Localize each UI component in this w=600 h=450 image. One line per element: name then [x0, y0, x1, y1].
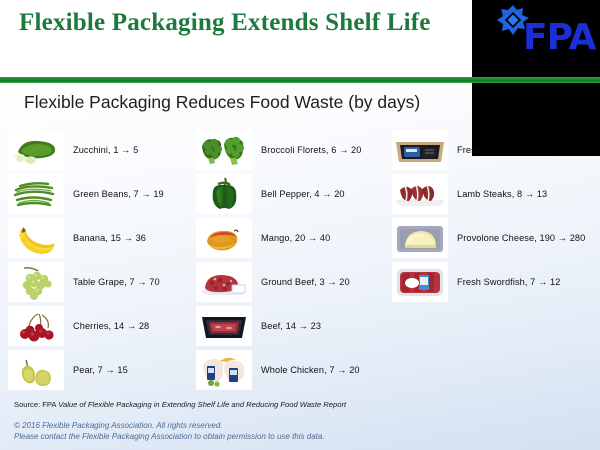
- item-label: Fresh: [448, 145, 481, 155]
- bell-pepper-image: [196, 174, 252, 214]
- item-label: Broccoli Florets, 6 → 20: [252, 145, 361, 155]
- lamb-steaks-image: [392, 174, 448, 214]
- list-item: Cherries, 14 → 28: [8, 304, 198, 348]
- green-beans-image: [8, 174, 64, 214]
- copyright-block: © 2016 Flexible Packaging Association. A…: [14, 420, 325, 442]
- section-subtitle: Flexible Packaging Reduces Food Waste (b…: [24, 92, 420, 113]
- item-label: Mango, 20 → 40: [252, 233, 330, 243]
- copyright-line-2: Please contact the Flexible Packaging As…: [14, 431, 325, 442]
- item-label: Lamb Steaks, 8 → 13: [448, 189, 547, 199]
- page-title: Flexible Packaging Extends Shelf Life: [19, 8, 459, 37]
- banana-image: [8, 218, 64, 258]
- cherries-image: [8, 306, 64, 346]
- whole-chicken-image: [196, 350, 252, 390]
- ground-beef-image: [196, 262, 252, 302]
- grapes-image: [8, 262, 64, 302]
- list-item: Pear, 7 → 15: [8, 348, 198, 392]
- list-item: Banana, 15 → 36: [8, 216, 198, 260]
- list-item: Fresh: [392, 128, 600, 172]
- copyright-line-1: © 2016 Flexible Packaging Association. A…: [14, 420, 325, 431]
- item-label: Pear, 7 → 15: [64, 365, 128, 375]
- item-label: Fresh Swordfish, 7 → 12: [448, 277, 560, 287]
- zucchini-image: [8, 130, 64, 170]
- list-item: Broccoli Florets, 6 → 20: [196, 128, 392, 172]
- broccoli-image: [196, 130, 252, 170]
- source-title: Value of Flexible Packaging in Extending…: [58, 400, 346, 409]
- item-label: Whole Chicken, 7 → 20: [252, 365, 360, 375]
- item-label: Green Beans, 7 → 19: [64, 189, 164, 199]
- item-label: Table Grape, 7 → 70: [64, 277, 160, 287]
- food-items-grid: Zucchini, 1 → 5 Green Beans, 7 → 19: [0, 128, 600, 390]
- packaged-tray-image: [392, 130, 448, 170]
- item-label: Zucchini, 1 → 5: [64, 145, 138, 155]
- cheese-wedge-image: [392, 218, 448, 258]
- swordfish-tray-image: [392, 262, 448, 302]
- list-item: Green Beans, 7 → 19: [8, 172, 198, 216]
- source-prefix: Source: FPA: [14, 400, 58, 409]
- beef-tray-image: [196, 306, 252, 346]
- pears-image: [8, 350, 64, 390]
- logo-container: FPA: [472, 0, 600, 78]
- list-item: Bell Pepper, 4 → 20: [196, 172, 392, 216]
- list-item: Fresh Swordfish, 7 → 12: [392, 260, 600, 304]
- list-item: Mango, 20 → 40: [196, 216, 392, 260]
- item-label: Provolone Cheese, 190 → 280: [448, 233, 585, 243]
- source-line: Source: FPA Value of Flexible Packaging …: [14, 400, 346, 409]
- column-1: Zucchini, 1 → 5 Green Beans, 7 → 19: [8, 128, 198, 392]
- item-label: Beef, 14 → 23: [252, 321, 321, 331]
- column-3: Fresh Lamb Steaks, 8 → 13: [392, 128, 600, 304]
- column-2: Broccoli Florets, 6 → 20 Bell Pepper, 4 …: [196, 128, 392, 392]
- item-label: Ground Beef, 3 → 20: [252, 277, 350, 287]
- list-item: Zucchini, 1 → 5: [8, 128, 198, 172]
- list-item: Whole Chicken, 7 → 20: [196, 348, 392, 392]
- logo-wordmark: FPA: [523, 20, 596, 56]
- item-label: Cherries, 14 → 28: [64, 321, 149, 331]
- list-item: Lamb Steaks, 8 → 13: [392, 172, 600, 216]
- list-item: Provolone Cheese, 190 → 280: [392, 216, 600, 260]
- item-label: Bell Pepper, 4 → 20: [252, 189, 345, 199]
- item-label: Banana, 15 → 36: [64, 233, 146, 243]
- list-item: Table Grape, 7 → 70: [8, 260, 198, 304]
- mango-image: [196, 218, 252, 258]
- list-item: Beef, 14 → 23: [196, 304, 392, 348]
- list-item: Ground Beef, 3 → 20: [196, 260, 392, 304]
